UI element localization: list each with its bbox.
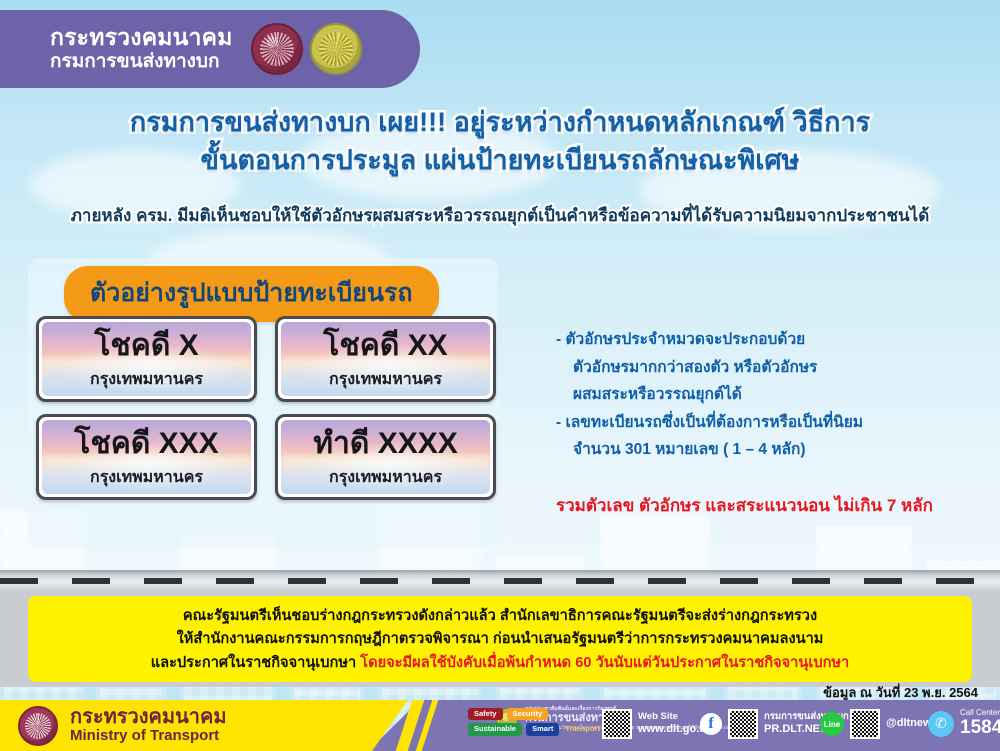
line-icon: Line <box>820 712 844 736</box>
footer-bar: กระทรวงคมนาคม Ministry of Transport กลุ่… <box>0 700 1000 751</box>
website-label: Web Site <box>638 711 710 723</box>
detail-line: ผสมสระหรือวรรณยุกต์ได้ <box>556 381 986 409</box>
royal-seal-gold-icon <box>310 23 362 75</box>
license-plate: โชคดี X กรุงเทพมหานคร <box>36 316 257 402</box>
red-emphasis-note: รวมตัวเลข ตัวอักษร และสระแนวนอน ไม่เกิน … <box>556 492 933 519</box>
call-center-number: 1584 <box>960 718 1000 739</box>
details-list: - ตัวอักษรประจำหมวดจะประกอบด้วย ตัวอักษร… <box>556 326 986 464</box>
cabinet-note-line: คณะรัฐมนตรีเห็นชอบร่างกฎกระทรวงดังกล่าวแ… <box>183 605 817 629</box>
plate-province-text: กรุงเทพมหานคร <box>90 367 203 392</box>
plate-row: โชคดี XXX กรุงเทพมหานคร ทำดี XXXX กรุงเท… <box>36 414 496 500</box>
qr-code-icon <box>602 709 632 739</box>
plate-province-text: กรุงเทพมหานคร <box>329 367 442 392</box>
main-title: กรมการขนส่งทางบก เผย!!! อยู่ระหว่างกำหนด… <box>0 103 1000 180</box>
website-contact[interactable]: Web Site www.dlt.go.th <box>602 709 710 739</box>
ministry-seal-icon <box>18 706 58 746</box>
plate-main-text: โชคดี XX <box>323 331 447 361</box>
cabinet-note-line: และประกาศในราชกิจจานุเบกษา โดยจะมีผลใช้บ… <box>151 652 850 676</box>
badge-smart: Smart <box>526 723 559 735</box>
line-contact[interactable]: Line @dltnews <box>820 709 938 739</box>
plate-main-text: โชคดี X <box>94 331 198 361</box>
detail-line: - ตัวอักษรประจำหมวดจะประกอบด้วย <box>556 326 986 354</box>
website-text: Web Site www.dlt.go.th <box>638 711 710 737</box>
badge-safety: Safety <box>468 708 503 720</box>
detail-line: จำนวน 301 หมายเลข ( 1 – 4 หลัก) <box>556 436 986 464</box>
qr-code-icon <box>728 709 758 739</box>
badge-row: Safety Security <box>468 708 586 720</box>
header-department-name: กรมการขนส่งทางบก <box>50 51 233 72</box>
ministry-footer-titles: กระทรวงคมนาคม Ministry of Transport <box>70 706 227 745</box>
plate-face: โชคดี X กรุงเทพมหานคร <box>42 322 251 396</box>
badge-sustainable: Sustainable <box>468 723 522 735</box>
cabinet-note-line: ให้สำนักงานคณะกรรมการกฤษฎีกาตรวจพิจารณา … <box>177 628 824 652</box>
plate-face: ทำดี XXXX กรุงเทพมหานคร <box>281 420 490 494</box>
badge-row: Sustainable Smart Transport <box>468 723 586 735</box>
header-titles: กระทรวงคมนาคม กรมการขนส่งทางบก <box>50 25 233 72</box>
detail-line: ตัวอักษรมากกว่าสองตัว หรือตัวอักษร <box>556 354 986 382</box>
call-center-contact[interactable]: ✆ Call Center 1584 <box>928 709 1000 739</box>
title-line-1: กรมการขนส่งทางบก เผย!!! อยู่ระหว่างกำหนด… <box>0 103 1000 141</box>
cabinet-note-box: คณะรัฐมนตรีเห็นชอบร่างกฎกระทรวงดังกล่าวแ… <box>28 596 972 682</box>
plate-face: โชคดี XX กรุงเทพมหานคร <box>281 322 490 396</box>
detail-line: - เลขทะเบียนรถซึ่งเป็นที่ต้องการหรือเป็น… <box>556 409 986 437</box>
license-plate: โชคดี XXX กรุงเทพมหานคร <box>36 414 257 500</box>
header-banner: กระทรวงคมนาคม กรมการขนส่งทางบก <box>0 10 420 88</box>
call-center-text: Call Center 1584 <box>960 709 1000 739</box>
facebook-icon: f <box>700 713 722 735</box>
plate-main-text: โชคดี XXX <box>74 429 218 459</box>
plate-province-text: กรุงเทพมหานคร <box>90 465 203 490</box>
value-badges: Safety Security Sustainable Smart Transp… <box>468 708 586 739</box>
plate-row: โชคดี X กรุงเทพมหานคร โชคดี XX กรุงเทพมห… <box>36 316 496 402</box>
website-url: www.dlt.go.th <box>638 723 710 737</box>
infographic-page: กระทรวงคมนาคม กรมการขนส่งทางบก กรมการขนส… <box>0 0 1000 751</box>
plate-examples: โชคดี X กรุงเทพมหานคร โชคดี XX กรุงเทพมห… <box>36 316 496 512</box>
cabinet-note-black: และประกาศในราชกิจจานุเบกษา <box>151 655 361 671</box>
footer-ministry-en: Ministry of Transport <box>70 728 227 745</box>
road-dashes <box>0 578 1000 584</box>
plates-section-label: ตัวอย่างรูปแบบป้ายทะเบียนรถ <box>64 266 439 322</box>
badge-transport: Transport <box>563 723 606 735</box>
cabinet-note-red: โดยจะมีผลใช้บังคับเมื่อพ้นกำหนด 60 วันนั… <box>360 655 849 671</box>
subtitle-text: ภายหลัง ครม. มีมติเห็นชอบให้ใช้ตัวอักษรผ… <box>0 202 1000 229</box>
badge-security: Security <box>507 708 549 720</box>
header-ministry-name: กระทรวงคมนาคม <box>50 25 233 51</box>
license-plate: ทำดี XXXX กรุงเทพมหานคร <box>275 414 496 500</box>
header-emblems <box>251 23 362 75</box>
royal-seal-maroon-icon <box>251 23 303 75</box>
footer-ministry-th: กระทรวงคมนาคม <box>70 706 227 728</box>
plate-main-text: ทำดี XXXX <box>313 429 457 459</box>
qr-code-icon <box>850 709 880 739</box>
plate-face: โชคดี XXX กรุงเทพมหานคร <box>42 420 251 494</box>
license-plate: โชคดี XX กรุงเทพมหานคร <box>275 316 496 402</box>
phone-icon: ✆ <box>928 711 954 737</box>
title-line-2: ขั้นตอนการประมูล แผ่นป้ายทะเบียนรถลักษณะ… <box>0 141 1000 179</box>
plate-province-text: กรุงเทพมหานคร <box>329 465 442 490</box>
